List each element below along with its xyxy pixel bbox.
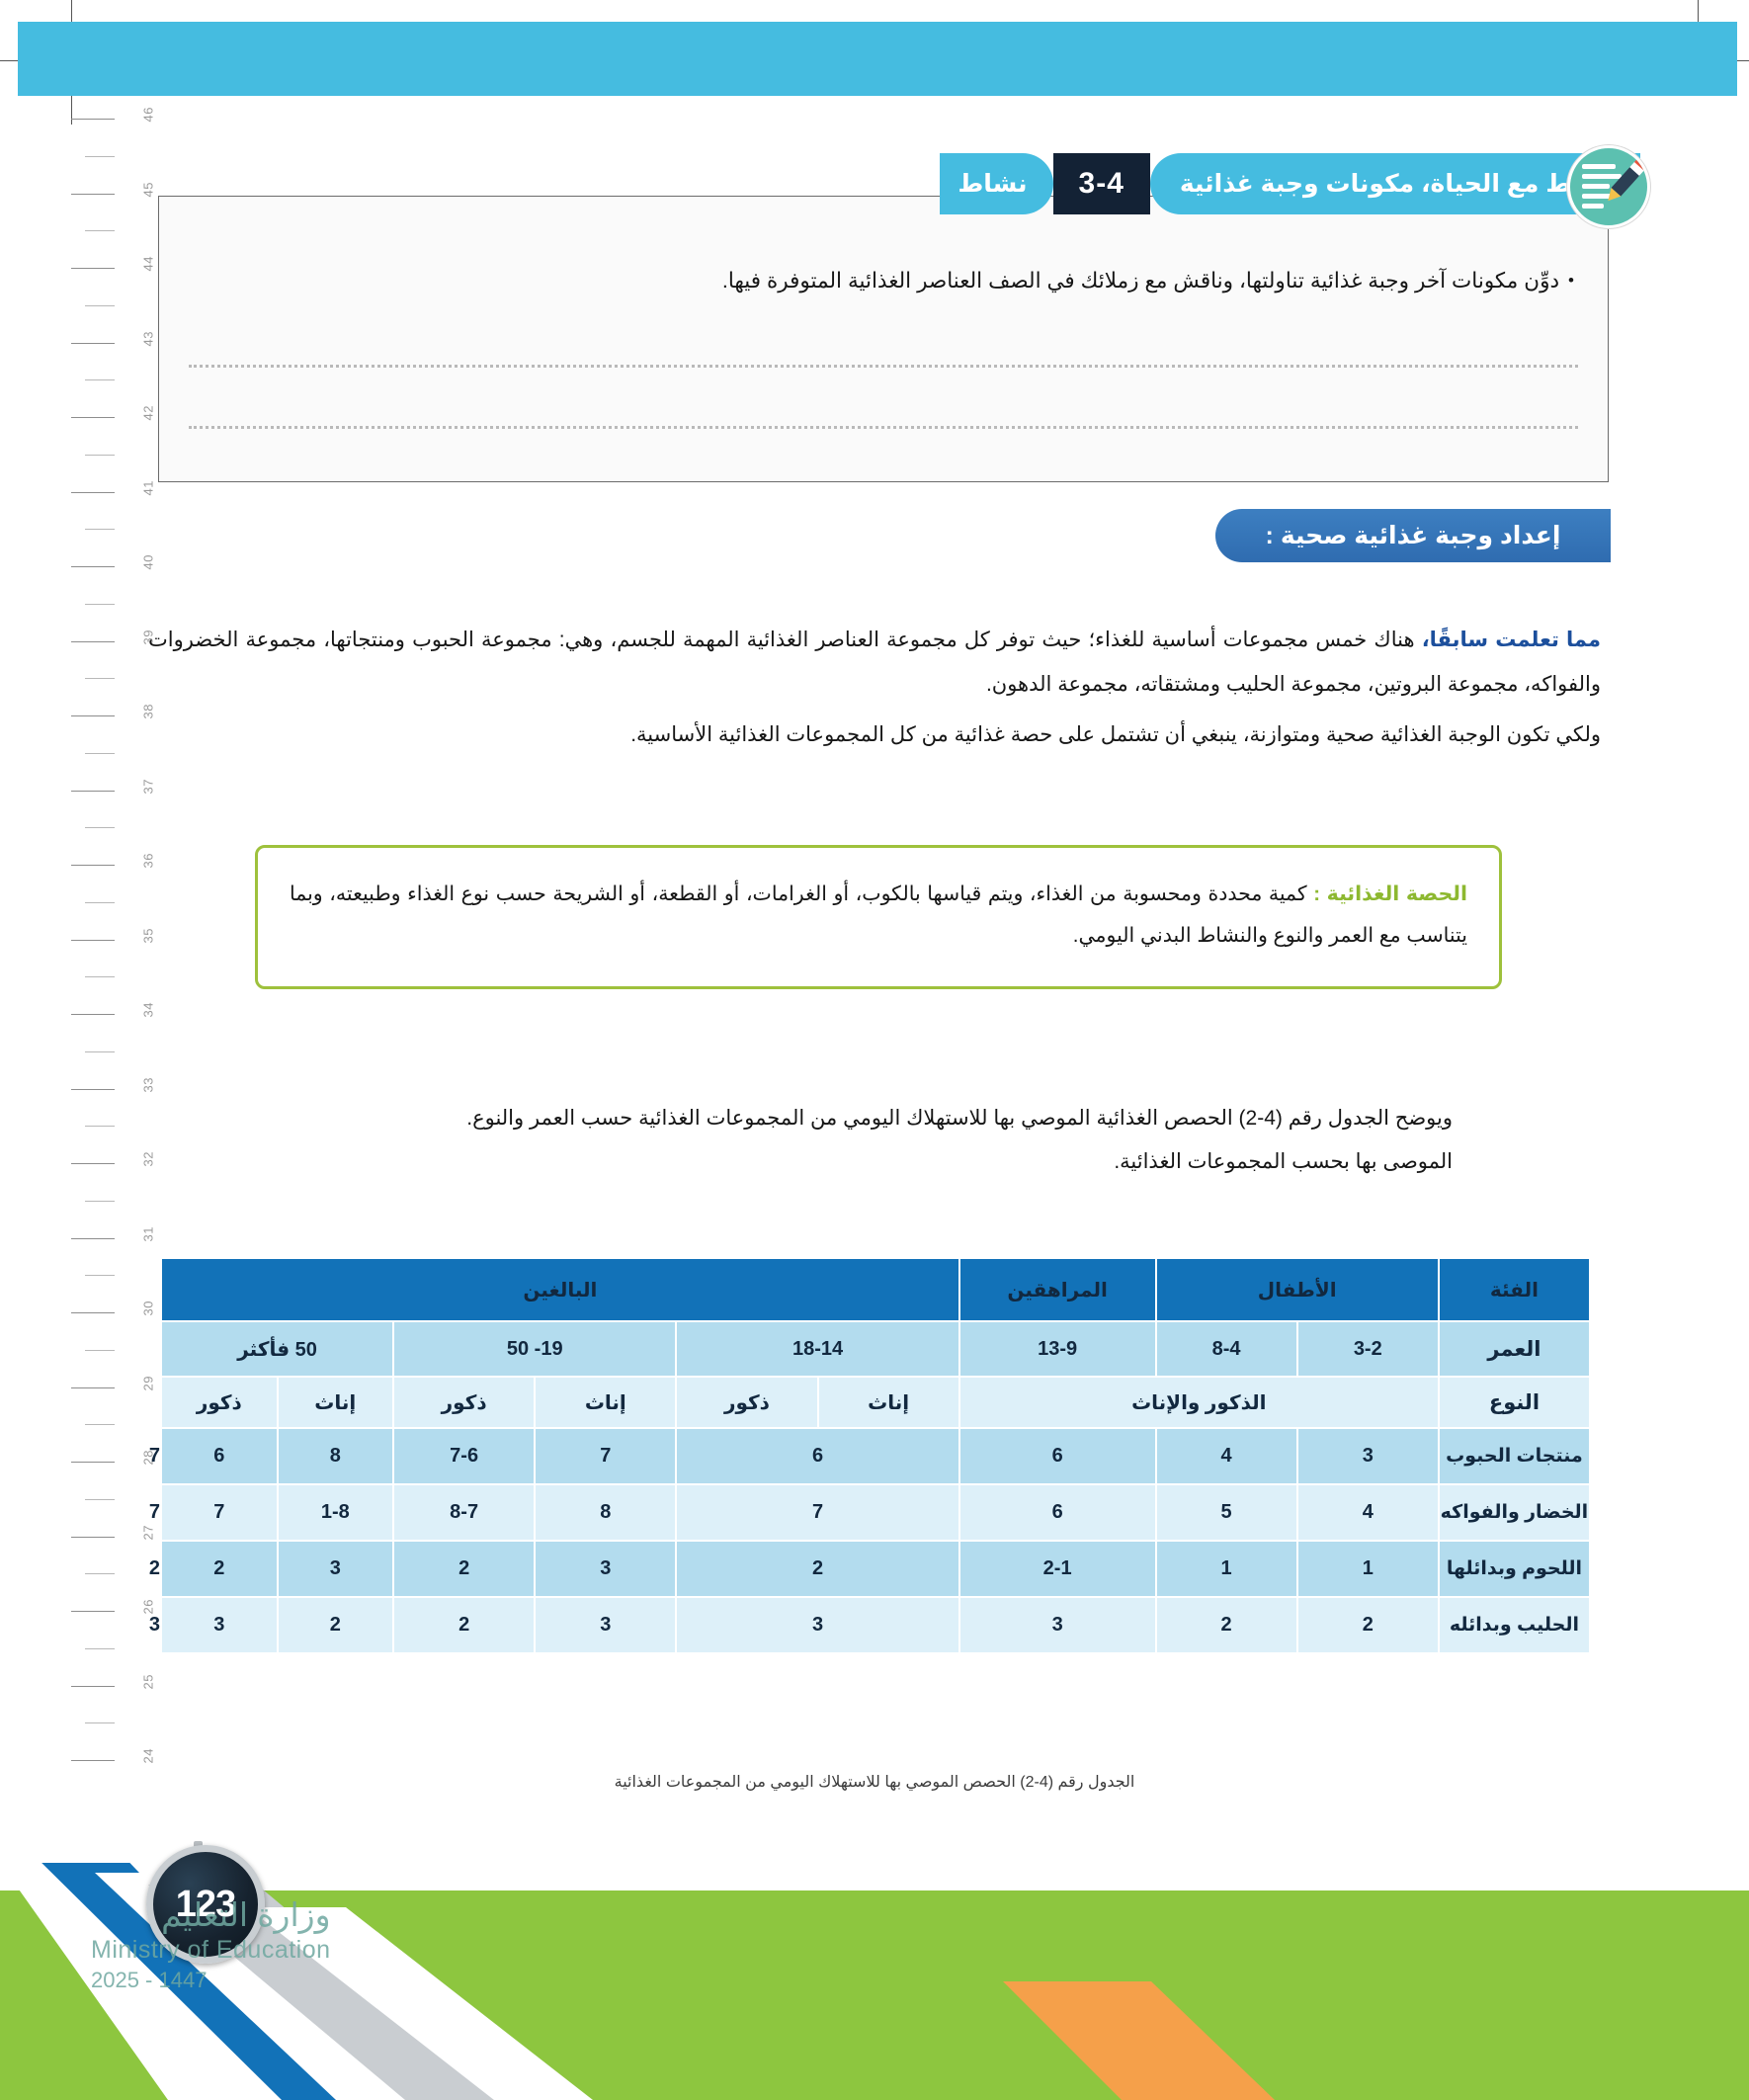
table-age-row: العمر3-28-413-918-1419- 5050 فأكثر [160,1322,1589,1376]
nutrition-table: الفئةالأطفالالمراهقينالبالغين العمر3-28-… [158,1257,1591,1654]
ruler-tick-minor [85,604,115,605]
ruler-tick-major [71,865,115,866]
table-cell-value: 2 [1298,1598,1438,1652]
ruler-label: 31 [140,1226,155,1241]
table-data-body: منتجات الحبوب346677-6867الخضار والفواكه4… [160,1429,1589,1652]
table-cell-value: 7-6 [394,1429,534,1483]
table-cell-value: 6 [677,1429,958,1483]
ruler-tick-major [71,417,115,418]
ruler-tick-minor [85,1499,115,1500]
ruler-tick-minor [85,1424,115,1425]
ruler-label: 33 [140,1077,155,1092]
table-cell-value: 2 [1157,1598,1296,1652]
ruler-tick-major [71,1686,115,1687]
ruler-tick-minor [85,902,115,903]
table-head: الفئةالأطفالالمراهقينالبالغين [160,1259,1589,1320]
table-cell-value: 2 [394,1598,534,1652]
table-intro-line-2: الموصى بها بحسب المجموعات الغذائية. [296,1140,1453,1184]
ruler-tick-major [71,1611,115,1612]
ruler-tick-major [71,194,115,195]
table-cell-value: 6 [162,1429,277,1483]
table-intro-line-1: ويوضح الجدول رقم (4-2) الحصص الغذائية ال… [296,1097,1453,1140]
ruler-tick-major [71,1462,115,1463]
textbook-page: 4645444342414039383736353433323130292827… [0,0,1749,2100]
ruler-label: 30 [140,1301,155,1315]
ruler-tick-major [71,791,115,792]
table-cell-age: 3-2 [1298,1322,1438,1376]
table-cell-value: 8 [536,1485,675,1540]
ruler-label: 24 [140,1748,155,1763]
ruler-tick-major [71,1089,115,1090]
ruler-tick-major [71,940,115,941]
ruler-label: 34 [140,1002,155,1017]
ruler-label: 27 [140,1525,155,1540]
writing-line-1[interactable] [189,365,1578,368]
activity-instruction-text: دوِّن مكونات آخر وجبة غذائية تناولتها، و… [722,269,1559,293]
ruler-tick-major [71,268,115,269]
table-cell-value: 6 [960,1485,1155,1540]
table-cell-gender: الذكور والإناث [960,1378,1438,1427]
table-cell-value: 3 [536,1598,675,1652]
ruler-tick-major [71,1014,115,1015]
table-cell-age: 18-14 [677,1322,958,1376]
ruler-tick-minor [85,156,115,157]
table-cell-value: 4 [1157,1429,1296,1483]
activity-header: الربط مع الحياة، مكونات وجبة غذائية 3-4 … [940,153,1640,214]
table-row-label-age: العمر [1440,1322,1589,1376]
table-cell-age: 19- 50 [394,1322,675,1376]
table-corner-header: الفئة [1440,1259,1589,1320]
ruler-tick-major [71,1238,115,1239]
ruler-tick-minor [85,1722,115,1723]
ruler-tick-major [71,566,115,567]
table-row: الحليب وبدائله223332233 [160,1598,1589,1652]
table-cell-value: 1-8 [279,1485,393,1540]
ministry-name-ar: وزارة التعليم [91,1894,331,1935]
ruler-tick-major [71,1537,115,1538]
table-cell-value: 2 [394,1542,534,1596]
page-footer: 123 وزارة التعليم Ministry of Education … [0,1833,1749,2100]
table-cell-value: 2 [677,1542,958,1596]
table-cell-value: 3 [279,1542,393,1596]
ruler-tick-minor [85,1275,115,1276]
ruler-tick-minor [85,529,115,530]
ministry-name-en: Ministry of Education [91,1935,331,1966]
table-row-label-gender: النوع [1440,1378,1589,1427]
table-cell-value: 2 [279,1598,393,1652]
ruler-label: 32 [140,1151,155,1166]
ruler-label: 44 [140,256,155,271]
table-cell-value: 1 [1298,1542,1438,1596]
table-row-label: الخضار والفواكه [1440,1485,1589,1540]
table-cell-gender: إناث [536,1378,675,1427]
table-cell-value: 3 [536,1542,675,1596]
table-cell-gender: ذكور [162,1378,277,1427]
table-intro: ويوضح الجدول رقم (4-2) الحصص الغذائية ال… [296,1097,1453,1184]
ruler-tick-minor [85,455,115,456]
table-row: الخضار والفواكه456788-71-877 [160,1485,1589,1540]
table-cell-value: 5 [1157,1485,1296,1540]
ruler-tick-minor [85,1126,115,1127]
ruler-label: 40 [140,554,155,569]
ruler-tick-major [71,1387,115,1388]
ministry-watermark: وزارة التعليم Ministry of Education 2025… [91,1894,331,1993]
table-cell-value: 3 [960,1598,1155,1652]
ruler-tick-minor [85,678,115,679]
definition-text: كمية محددة ومحسوبة من الغذاء، ويتم قياسه… [290,882,1467,947]
ruler-tick-major [71,1163,115,1164]
table-row: منتجات الحبوب346677-6867 [160,1429,1589,1483]
activity-box: •دوِّن مكونات آخر وجبة غذائية تناولتها، … [158,196,1609,482]
ruler-tick-major [71,641,115,642]
top-banner [18,22,1737,96]
table-group-header: المراهقين [960,1259,1155,1320]
table-caption: الجدول رقم (4-2) الحصص الموصي بها للاسته… [0,1772,1749,1792]
definition-box: الحصة الغذائية : كمية محددة ومحسوبة من ا… [255,845,1502,989]
ruler-tick-minor [85,379,115,380]
table-group-header-row: الفئةالأطفالالمراهقينالبالغين [160,1259,1589,1320]
table-cell-value: 7 [677,1485,958,1540]
activity-number: 3-4 [1053,153,1150,214]
table-cell-age: 50 فأكثر [162,1322,392,1376]
table-cell-age: 8-4 [1157,1322,1296,1376]
writing-line-2[interactable] [189,426,1578,429]
paragraph-1-text: هناك خمس مجموعات أساسية للغذاء؛ حيث توفر… [148,629,1601,696]
ruler-label: 43 [140,331,155,346]
ruler-label: 37 [140,779,155,794]
table-cell-value: 8-7 [394,1485,534,1540]
table-row-label: منتجات الحبوب [1440,1429,1589,1483]
ruler-label: 36 [140,853,155,868]
table-cell-value: 4 [1298,1485,1438,1540]
table-cell-value: 7 [162,1485,277,1540]
table-cell-value: 3 [677,1598,958,1652]
table-cell-value: 2-1 [960,1542,1155,1596]
ruler-tick-major [71,1312,115,1313]
table-gender-row: النوعالذكور والإناثإناثذكورإناثذكورإناثذ… [160,1378,1589,1427]
ruler-label: 35 [140,928,155,943]
activity-label: نشاط [940,153,1052,214]
table-row-label: الحليب وبدائله [1440,1598,1589,1652]
ruler-tick-major [71,343,115,344]
ruler-tick-minor [85,827,115,828]
ruler-label: 25 [140,1674,155,1689]
ruler-tick-minor [85,1350,115,1351]
nutrition-table-wrapper: الفئةالأطفالالمراهقينالبالغين العمر3-28-… [158,1257,1591,1654]
ruler-tick-major [71,119,115,120]
ministry-year: 2025 - 1447 [91,1967,331,1994]
ruler-tick-minor [85,305,115,306]
ruler-tick-major [71,1760,115,1761]
ruler-label: 41 [140,480,155,495]
definition-term: الحصة الغذائية : [1313,882,1467,905]
table-row-label: اللحوم وبدائلها [1440,1542,1589,1596]
ruler-label: 46 [140,107,155,122]
table-group-header: البالغين [162,1259,958,1320]
ruler-tick-minor [85,1051,115,1052]
table-cell-value: 6 [960,1429,1155,1483]
ruler-tick-minor [85,976,115,977]
table-cell-gender: ذكور [394,1378,534,1427]
ruler-label: 42 [140,405,155,420]
page-ruler: 4645444342414039383736353433323130292827… [69,119,136,1838]
ruler-tick-minor [85,1201,115,1202]
intro-highlight: مما تعلمت سابقًا، [1422,629,1601,651]
table-cell-value: 1 [1157,1542,1296,1596]
table-cell-value: 3 [162,1598,277,1652]
table-row: اللحوم وبدائلها112-1232322 [160,1542,1589,1596]
table-cell-gender: ذكور [677,1378,816,1427]
ruler-tick-minor [85,753,115,754]
ruler-tick-major [71,715,115,716]
ruler-tick-minor [85,230,115,231]
bullet-icon: • [1568,267,1574,294]
section-heading: إعداد وجبة غذائية صحية : [1215,509,1611,562]
ruler-tick-minor [85,1648,115,1649]
table-body: العمر3-28-413-918-1419- 5050 فأكثر النوع… [160,1322,1589,1427]
table-cell-gender: إناث [279,1378,393,1427]
ruler-label: 45 [140,182,155,197]
activity-instruction: •دوِّن مكونات آخر وجبة غذائية تناولتها، … [193,264,1574,297]
paragraph-1: مما تعلمت سابقًا، هناك خمس مجموعات أساسي… [148,618,1601,707]
table-cell-age: 13-9 [960,1322,1155,1376]
table-cell-value: 8 [279,1429,393,1483]
ruler-tick-minor [85,1573,115,1574]
ruler-label: 26 [140,1599,155,1614]
paragraph-2: ولكي تكون الوجبة الغذائية صحية ومتوازنة،… [148,713,1601,757]
ruler-tick-major [71,492,115,493]
table-cell-gender: إناث [819,1378,958,1427]
body-text: مما تعلمت سابقًا، هناك خمس مجموعات أساسي… [148,618,1601,763]
table-group-header: الأطفال [1157,1259,1438,1320]
table-cell-value: 3 [1298,1429,1438,1483]
table-cell-value: 2 [162,1542,277,1596]
table-cell-value: 7 [536,1429,675,1483]
ruler-label: 29 [140,1376,155,1390]
document-pencil-icon [1567,145,1650,228]
